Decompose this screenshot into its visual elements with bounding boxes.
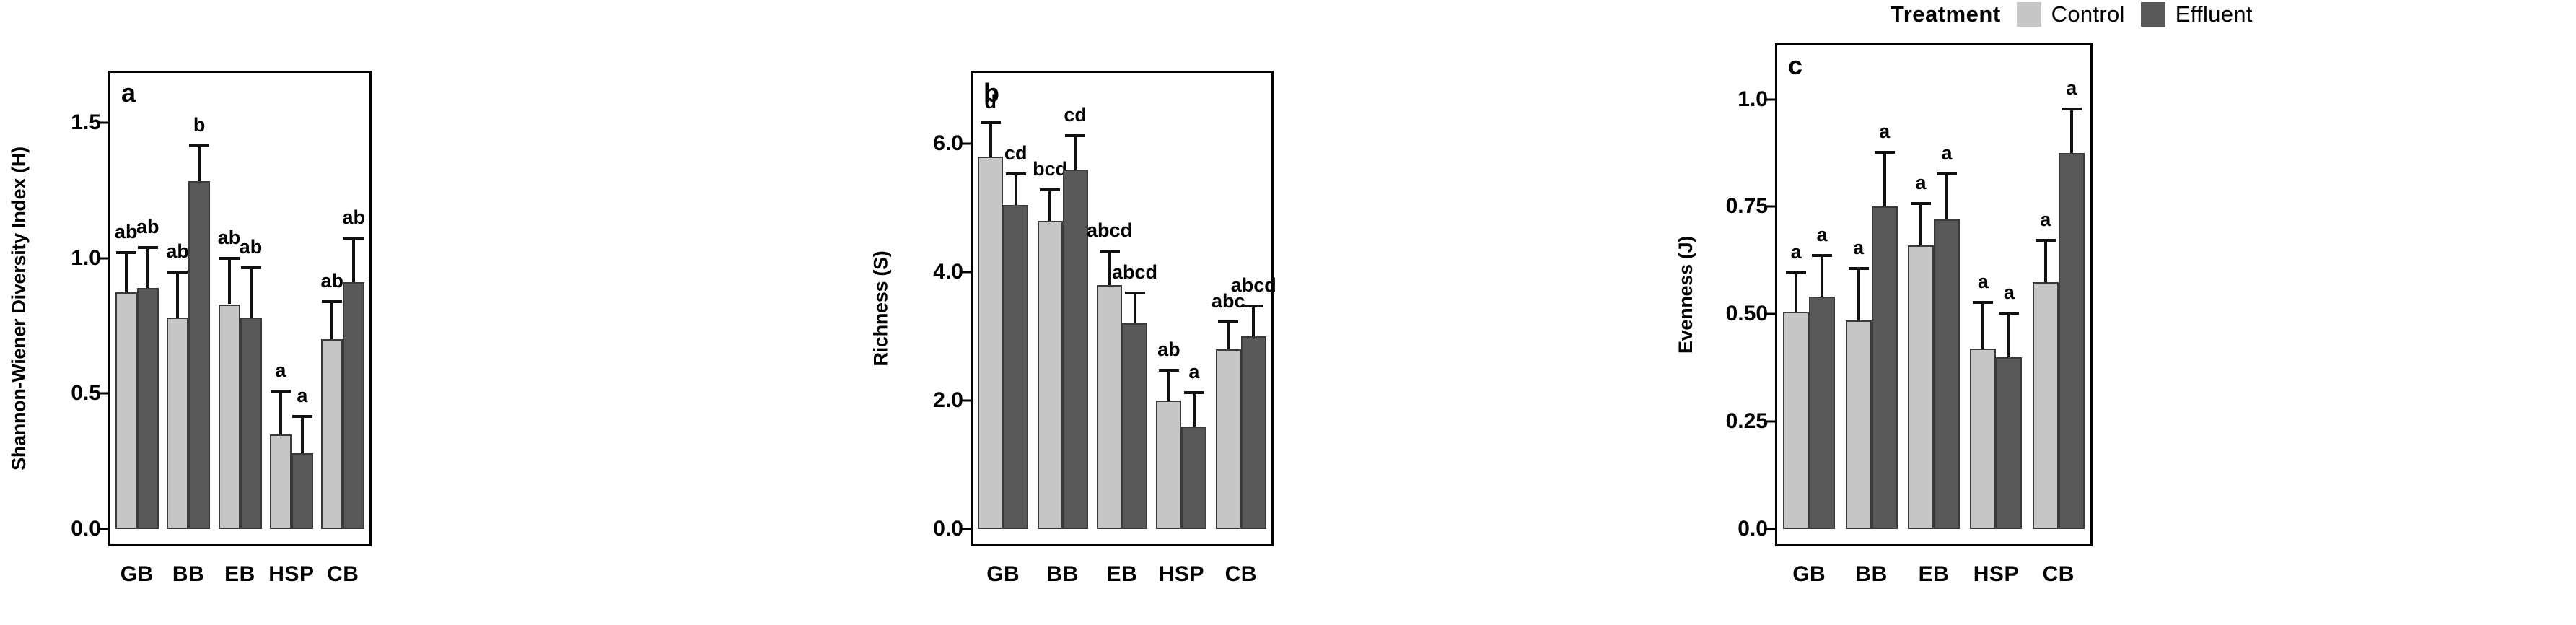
error-bar xyxy=(2007,312,2010,357)
significance-label: a xyxy=(1941,144,1952,163)
error-bar xyxy=(1193,391,1196,427)
bar-a-hsp-control[interactable] xyxy=(270,434,292,529)
significance-label: a xyxy=(297,386,307,406)
bar-a-bb-effluent[interactable] xyxy=(188,181,210,529)
error-bar-cap xyxy=(1006,172,1026,175)
significance-label: a xyxy=(275,361,286,380)
significance-label: ab xyxy=(240,237,263,257)
error-bar-cap xyxy=(1100,250,1120,253)
bar-c-gb-effluent[interactable] xyxy=(1809,297,1835,529)
significance-label: ab xyxy=(321,271,344,291)
bar-b-eb-control[interactable] xyxy=(1097,285,1122,529)
error-bar xyxy=(1015,172,1017,205)
bar-c-eb-effluent[interactable] xyxy=(1934,219,1960,529)
bar-a-cb-control[interactable] xyxy=(321,339,343,529)
error-bar xyxy=(250,266,253,318)
bar-b-hsp-effluent[interactable] xyxy=(1181,427,1206,529)
significance-label: d xyxy=(984,92,996,112)
error-bar xyxy=(146,246,149,288)
x-tick-label-gb: GB xyxy=(973,562,1033,587)
bar-b-hsp-control[interactable] xyxy=(1156,401,1181,529)
significance-label: ab xyxy=(343,208,366,227)
bar-c-bb-control[interactable] xyxy=(1846,320,1872,529)
significance-label: b xyxy=(193,115,206,135)
error-bar xyxy=(1074,134,1077,170)
y-tick-label: 2.0 xyxy=(933,388,963,413)
error-bar-cap xyxy=(1999,312,2019,315)
error-bar-cap xyxy=(138,246,158,249)
legend-entry-effluent[interactable]: Effluent xyxy=(2141,1,2253,27)
error-bar xyxy=(1981,301,1984,349)
bar-a-bb-control[interactable] xyxy=(167,318,188,529)
y-tick-label: 1.0 xyxy=(1738,87,1768,112)
bar-b-cb-control[interactable] xyxy=(1216,349,1241,529)
panel-c: Evenness (J)0.00.250.500.751.0caaaaaaaaa… xyxy=(1667,0,2100,625)
error-bar xyxy=(1795,271,1797,312)
error-bar xyxy=(1108,250,1111,285)
error-bar-cap xyxy=(189,144,209,147)
error-bar xyxy=(352,237,355,283)
y-tick-label: 0.50 xyxy=(1726,302,1768,326)
error-bar xyxy=(1134,292,1136,324)
significance-label: a xyxy=(1978,272,1989,292)
significance-label: abcd xyxy=(1087,221,1132,240)
error-bar-cap xyxy=(1218,320,1238,323)
significance-label: ab xyxy=(115,222,138,242)
x-tick-label-gb: GB xyxy=(1778,562,1840,587)
significance-label: abcd xyxy=(1231,276,1276,295)
panel-letter: c xyxy=(1788,51,1802,81)
significance-label: ab xyxy=(136,217,159,237)
figure-root: TreatmentControlEffluentShannon-Wiener D… xyxy=(0,0,2576,625)
error-bar xyxy=(330,300,333,339)
bar-c-gb-control[interactable] xyxy=(1783,312,1809,529)
bar-a-eb-effluent[interactable] xyxy=(240,318,262,529)
y-axis-title: Richness (S) xyxy=(867,71,895,546)
error-bar xyxy=(198,144,201,181)
error-bar-cap xyxy=(292,415,312,418)
x-axis-labels: GBBBEBHSPCB xyxy=(111,562,369,587)
error-bar xyxy=(1227,320,1230,349)
panel-a: Shannon-Wiener Diversity Index (H)0.00.5… xyxy=(0,0,379,625)
x-tick-label-hsp: HSP xyxy=(266,562,317,587)
error-bar xyxy=(1252,305,1255,337)
error-bar-cap xyxy=(1125,292,1145,294)
error-bar-cap xyxy=(1849,267,1869,270)
x-tick-label-cb: CB xyxy=(2028,562,2090,587)
error-bar xyxy=(2070,108,2073,153)
y-axis-ticklabels: 0.00.51.01.5 xyxy=(39,0,101,625)
bar-b-bb-effluent[interactable] xyxy=(1063,170,1088,529)
x-tick-label-bb: BB xyxy=(162,562,214,587)
y-axis-title: Shannon-Wiener Diversity Index (H) xyxy=(4,71,33,546)
legend-entry-label: Effluent xyxy=(2176,1,2253,27)
significance-label: a xyxy=(2066,79,2077,98)
error-bar-cap xyxy=(1911,202,1931,205)
error-bar xyxy=(1945,172,1948,220)
error-bar-cap xyxy=(2062,108,2082,110)
error-bar xyxy=(279,390,282,434)
x-tick-label-bb: BB xyxy=(1033,562,1092,587)
error-bar xyxy=(1883,151,1886,206)
error-bar-cap xyxy=(2036,239,2056,242)
significance-label: ab xyxy=(166,242,189,261)
x-tick-label-cb: CB xyxy=(1212,562,1271,587)
y-tick-label: 1.0 xyxy=(71,246,101,271)
significance-label: a xyxy=(1791,242,1802,262)
y-tick-label: 0.0 xyxy=(1738,517,1768,541)
bar-c-hsp-control[interactable] xyxy=(1970,349,1996,529)
error-bar-cap xyxy=(271,390,291,393)
y-tick-label: 0.0 xyxy=(71,517,101,541)
error-bar xyxy=(1821,254,1823,297)
error-bar-cap xyxy=(1065,134,1085,137)
x-tick-label-eb: EB xyxy=(214,562,266,587)
significance-label: abcd xyxy=(1112,263,1157,282)
bar-b-eb-effluent[interactable] xyxy=(1122,323,1147,529)
y-axis-title-text: Shannon-Wiener Diversity Index (H) xyxy=(8,147,30,471)
y-axis-title: Evenness (J) xyxy=(1671,43,1700,546)
bar-b-cb-effluent[interactable] xyxy=(1241,336,1266,529)
error-bar xyxy=(989,121,992,157)
error-bar-cap xyxy=(116,251,136,254)
error-bar-cap xyxy=(322,300,342,303)
x-tick-label-bb: BB xyxy=(1840,562,1902,587)
error-bar xyxy=(1919,202,1922,245)
significance-label: a xyxy=(2040,210,2051,230)
panel-letter: a xyxy=(121,78,136,108)
significance-label: cd xyxy=(1004,144,1028,163)
error-bar-cap xyxy=(1786,271,1806,274)
significance-label: cd xyxy=(1064,105,1087,125)
bar-a-hsp-effluent[interactable] xyxy=(292,453,313,529)
significance-label: a xyxy=(1853,238,1864,258)
bar-b-gb-effluent[interactable] xyxy=(1003,205,1028,529)
y-axis-ticklabels: 0.00.250.500.751.0 xyxy=(1706,0,1768,625)
bar-c-cb-effluent[interactable] xyxy=(2059,153,2085,529)
bar-a-gb-control[interactable] xyxy=(115,292,137,529)
y-axis-title-text: Richness (S) xyxy=(870,251,893,367)
x-axis-labels: GBBBEBHSPCB xyxy=(973,562,1271,587)
error-bar-cap xyxy=(1937,172,1957,175)
y-tick-label: 1.5 xyxy=(71,110,101,135)
y-tick-label: 6.0 xyxy=(933,131,963,156)
error-bar-cap xyxy=(1812,254,1832,257)
error-bar xyxy=(176,271,179,318)
bar-c-bb-effluent[interactable] xyxy=(1872,206,1898,529)
bar-c-eb-control[interactable] xyxy=(1908,245,1934,529)
legend-swatch-effluent xyxy=(2141,2,2165,27)
x-tick-label-gb: GB xyxy=(111,562,162,587)
error-bar-cap xyxy=(1040,188,1060,191)
error-bar-cap xyxy=(241,266,261,269)
error-bar xyxy=(2044,239,2047,282)
significance-label: a xyxy=(1915,173,1926,193)
x-tick-label-hsp: HSP xyxy=(1965,562,2027,587)
x-tick-label-cb: CB xyxy=(317,562,369,587)
significance-label: ab xyxy=(1157,340,1180,359)
error-bar xyxy=(1048,188,1051,221)
y-axis-ticklabels: 0.02.04.06.0 xyxy=(901,0,963,625)
y-axis-title-text: Evenness (J) xyxy=(1675,236,1697,354)
y-tick-label: 0.0 xyxy=(933,517,963,541)
error-bar-cap xyxy=(167,271,188,274)
error-bar-cap xyxy=(343,237,364,240)
error-bar-cap xyxy=(1973,301,1993,304)
bar-b-gb-control[interactable] xyxy=(978,157,1003,529)
significance-label: a xyxy=(1817,225,1828,245)
bar-b-bb-control[interactable] xyxy=(1038,221,1063,529)
significance-label: a xyxy=(1879,122,1890,141)
error-bar xyxy=(301,415,304,453)
bar-a-eb-control[interactable] xyxy=(219,305,240,530)
error-bar-cap xyxy=(1243,305,1263,307)
error-bar xyxy=(1857,267,1860,320)
error-bar-cap xyxy=(219,257,240,260)
bar-c-cb-control[interactable] xyxy=(2033,282,2059,529)
error-bar-cap xyxy=(1184,391,1204,394)
y-tick-label: 0.25 xyxy=(1726,409,1768,434)
significance-label: a xyxy=(2004,283,2015,302)
bar-c-hsp-effluent[interactable] xyxy=(1996,357,2022,529)
bar-a-cb-effluent[interactable] xyxy=(343,282,364,529)
error-bar-cap xyxy=(1159,369,1179,372)
x-tick-label-hsp: HSP xyxy=(1152,562,1211,587)
error-bar xyxy=(1167,369,1170,401)
error-bar xyxy=(125,251,128,292)
error-bar-cap xyxy=(981,121,1001,124)
bar-a-gb-effluent[interactable] xyxy=(137,288,159,529)
error-bar xyxy=(228,257,231,305)
significance-label: ab xyxy=(218,228,241,248)
error-bar-cap xyxy=(1875,151,1895,154)
y-tick-label: 4.0 xyxy=(933,260,963,284)
y-tick-label: 0.75 xyxy=(1726,194,1768,219)
significance-label: a xyxy=(1188,362,1199,382)
x-axis-labels: GBBBEBHSPCB xyxy=(1778,562,2090,587)
x-tick-label-eb: EB xyxy=(1092,562,1152,587)
x-tick-label-eb: EB xyxy=(1903,562,1965,587)
panel-b: Richness (S)0.02.04.06.0bdcdbcdcdabcdabc… xyxy=(862,0,1281,625)
y-tick-label: 0.5 xyxy=(71,381,101,406)
